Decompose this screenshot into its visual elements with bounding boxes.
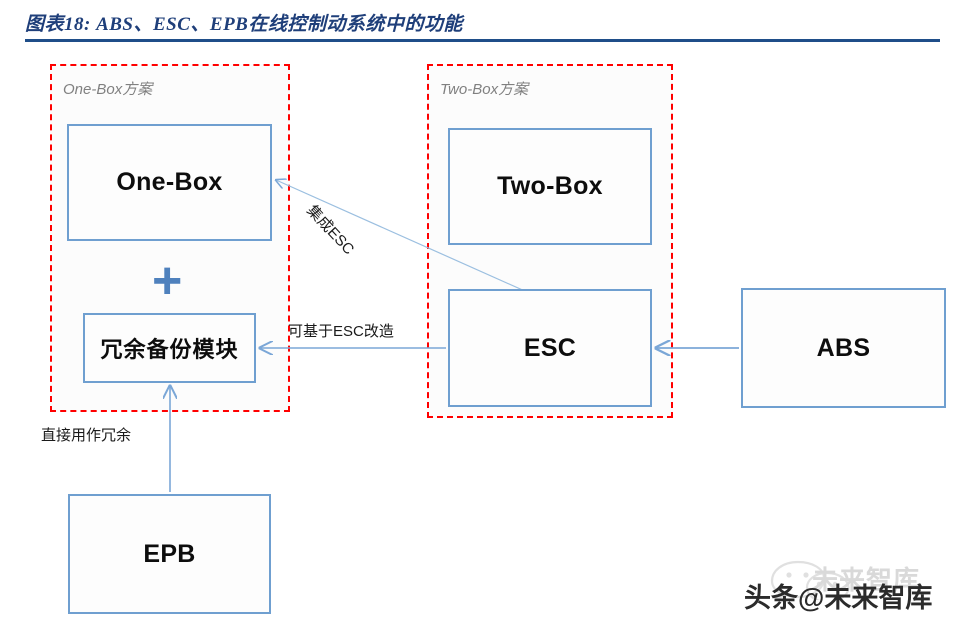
edge-label-direct-redundancy: 直接用作冗余 [41,424,131,445]
title-divider [25,39,940,42]
node-one-box-label: One-Box [116,168,222,197]
edge-label-based-on-esc: 可基于ESC改造 [288,320,394,341]
edge-label-integrate-esc: 集成ESC [303,200,360,259]
node-epb[interactable]: EPB [68,494,271,614]
watermark: 未来智库 头条@未来智库 [742,556,947,622]
node-esc[interactable]: ESC [448,289,652,407]
node-redundancy-module[interactable]: 冗余备份模块 [83,313,256,383]
node-redundancy-module-label: 冗余备份模块 [100,332,238,364]
figure-title: 图表18: ABS、ESC、EPB在线控制动系统中的功能 [25,9,463,36]
node-abs-label: ABS [817,334,871,363]
node-two-box-label: Two-Box [497,172,603,201]
node-two-box[interactable]: Two-Box [448,128,652,245]
watermark-main-text: 头条@未来智库 [744,576,932,615]
node-epb-label: EPB [143,540,195,569]
plus-icon: + [152,255,182,307]
two-box-group-label: Two-Box方案 [440,78,528,99]
one-box-group-label: One-Box方案 [63,78,152,99]
node-one-box[interactable]: One-Box [67,124,272,241]
figure-canvas: 图表18: ABS、ESC、EPB在线控制动系统中的功能 One-Box方案 T… [0,0,957,632]
node-esc-label: ESC [524,334,576,363]
node-abs[interactable]: ABS [741,288,946,408]
